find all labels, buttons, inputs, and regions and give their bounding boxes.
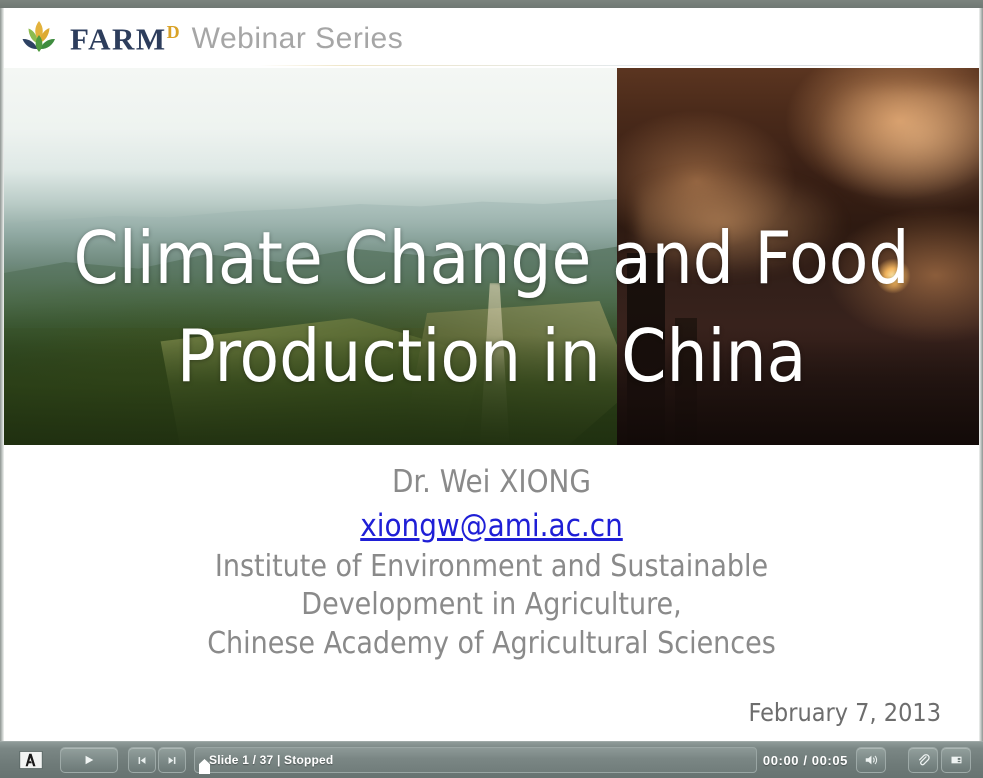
player-top-chrome (0, 0, 983, 8)
brand-wordmark: FARMD (70, 23, 180, 54)
paperclip-attachment-icon (916, 753, 931, 767)
volume-button[interactable] (856, 747, 886, 773)
player-right-icons (908, 747, 971, 773)
hero-photo-composite: Climate Change and Food Production in Ch… (4, 68, 979, 445)
presenter-player-frame: FARMD Webinar Series (0, 0, 983, 778)
volume-speaker-icon (863, 753, 879, 767)
slide-title: Climate Change and Food Production in Ch… (4, 210, 979, 406)
smoke-plume-right (817, 88, 979, 208)
presenter-email-row: xiongw@ami.ac.cn (4, 504, 979, 548)
brand-tagline: Webinar Series (192, 24, 404, 54)
attachments-button[interactable] (908, 747, 938, 773)
player-frame-right-edge (979, 8, 983, 741)
next-slide-button[interactable] (158, 747, 186, 773)
brand-wordmark-text: FARM (70, 22, 167, 57)
previous-slide-icon (136, 755, 148, 766)
header-divider-rule (259, 65, 959, 66)
slide-date: February 7, 2013 (749, 698, 941, 727)
brand-superscript-d: D (167, 22, 180, 42)
player-control-bar: Slide 1 / 37 | Stopped 00:00 / 00:05 (0, 741, 983, 778)
presenter-name: Dr. Wei XIONG (4, 460, 979, 504)
seek-progress-bar[interactable]: Slide 1 / 37 | Stopped (194, 747, 757, 773)
adobe-logo-icon (18, 746, 44, 774)
slide-canvas: FARMD Webinar Series (4, 8, 979, 741)
slide-header: FARMD Webinar Series (4, 8, 979, 68)
play-icon (82, 754, 96, 766)
sidebar-panel-icon (949, 753, 964, 767)
slide-navigation-group (128, 747, 186, 773)
previous-slide-button[interactable] (128, 747, 156, 773)
panel-toggle-button[interactable] (941, 747, 971, 773)
play-button[interactable] (60, 747, 118, 773)
next-slide-icon (166, 755, 178, 766)
slide-body-text: Dr. Wei XIONG xiongw@ami.ac.cn Institute… (4, 460, 979, 663)
affiliation-line-3: Chinese Academy of Agricultural Sciences (4, 625, 979, 663)
presenter-email-link[interactable]: xiongw@ami.ac.cn (360, 504, 623, 548)
affiliation-line-2: Development in Agriculture, (4, 586, 979, 624)
affiliation-line-1: Institute of Environment and Sustainable (4, 548, 979, 586)
time-display: 00:00 / 00:05 (763, 753, 848, 768)
farmd-brand: FARMD Webinar Series (18, 16, 403, 62)
slide-status-text: Slide 1 / 37 | Stopped (195, 753, 333, 767)
farmd-leaf-logo-icon (18, 18, 60, 60)
slide-title-line-2: Production in China (34, 308, 949, 406)
slide-title-line-1: Climate Change and Food (34, 210, 949, 308)
